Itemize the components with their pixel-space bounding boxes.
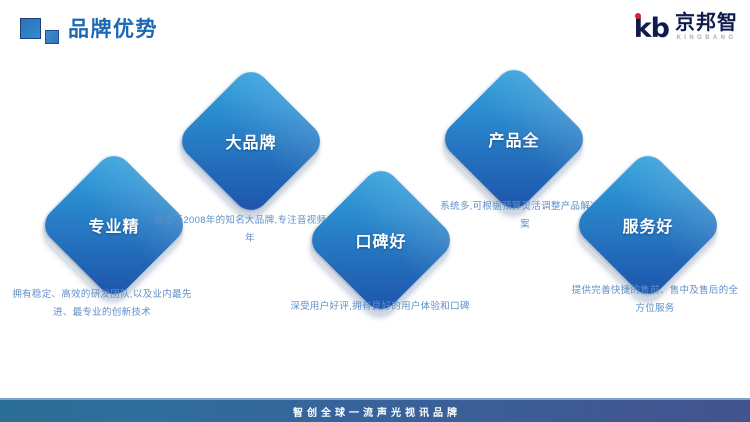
logo-wordmark: kb <box>634 15 669 42</box>
footer-slogan: 智创全球一流声光视讯品牌 <box>289 404 461 419</box>
diamond-label-4: 产品全 <box>460 85 568 193</box>
logo-name-block: 京邦智 KINGBANG <box>675 13 738 43</box>
advantage-description-1: 拥有稳定、高效的研发团队,以及业内最先进、最专业的创新技术 <box>12 286 192 322</box>
logo-chinese-name: 京邦智 <box>675 13 738 34</box>
brand-logo: kb 京邦智 KINGBANG <box>634 12 738 44</box>
square-small-icon <box>45 30 59 44</box>
square-large-icon <box>20 18 41 39</box>
diamond-label-5: 服务好 <box>594 171 702 279</box>
diamond-label-3: 口碑好 <box>327 186 435 294</box>
page-title: 品牌优势 <box>68 16 158 44</box>
logo-english-name: KINGBANG <box>675 34 738 43</box>
logo-dot-icon <box>635 13 641 19</box>
advantage-description-5: 提供完善快捷的售前、售中及售后的全方位服务 <box>570 282 740 318</box>
slide-canvas: 品牌优势 kb 京邦智 KINGBANG 专业精 拥有稳定、高效的研发团队,以及… <box>0 0 750 422</box>
header-square-marks <box>20 18 64 44</box>
advantage-description-3: 深受用户好评,拥有良好的用户体验和口碑 <box>290 298 470 316</box>
diamond-label-2: 大品牌 <box>197 87 305 195</box>
footer-bar: 智创全球一流声光视讯品牌 <box>0 400 750 422</box>
diamond-label-1: 专业精 <box>60 171 168 279</box>
